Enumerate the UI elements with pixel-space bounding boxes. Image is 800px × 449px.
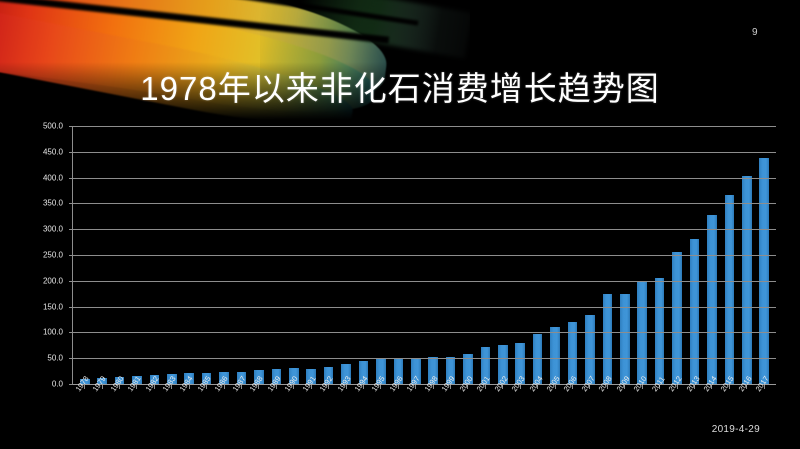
x-axis-label-cell: 2014 [703, 388, 720, 428]
slide-canvas: 9 1978年以来非化石消费增长趋势图 0.050.0100.0150.0200… [0, 0, 800, 449]
x-axis-label-cell: 2010 [634, 388, 651, 428]
y-axis-tick-label: 200.0 [43, 276, 63, 285]
bar[interactable] [742, 176, 752, 384]
bar[interactable] [690, 239, 700, 385]
x-axis-label-cell: 2013 [686, 388, 703, 428]
y-axis-tick-label: 300.0 [43, 225, 63, 234]
bar[interactable] [655, 278, 665, 384]
y-axis-tick-label: 0.0 [52, 380, 63, 389]
x-axis-label-cell: 1991 [302, 388, 319, 428]
x-axis-label-cell: 2015 [721, 388, 738, 428]
x-axis-label-cell: 1982 [145, 388, 162, 428]
gridline [73, 152, 776, 153]
gridline [73, 229, 776, 230]
bar[interactable] [672, 252, 682, 384]
x-axis-label-cell: 1980 [110, 388, 127, 428]
x-axis-label-cell: 2001 [476, 388, 493, 428]
y-axis-tick-mark [69, 126, 73, 127]
x-axis-label-cell: 1985 [197, 388, 214, 428]
x-axis-label-cell: 1998 [424, 388, 441, 428]
x-axis-label-cell: 2012 [668, 388, 685, 428]
y-axis-tick-mark [69, 332, 73, 333]
y-axis-tick-label: 500.0 [43, 122, 63, 131]
y-axis-tick-mark [69, 384, 73, 385]
x-axis-label-cell: 2006 [564, 388, 581, 428]
x-axis-label-cell: 2008 [599, 388, 616, 428]
gridline [73, 358, 776, 359]
x-axis-label-cell: 1997 [407, 388, 424, 428]
y-axis-tick-mark [69, 281, 73, 282]
y-axis-tick-label: 150.0 [43, 302, 63, 311]
x-axis-label-cell: 1990 [284, 388, 301, 428]
footer-date: 2019-4-29 [712, 424, 760, 435]
x-axis-label-cell: 1979 [92, 388, 109, 428]
y-axis-tick-label: 450.0 [43, 147, 63, 156]
x-axis-label-cell: 1984 [180, 388, 197, 428]
x-axis-label-cell: 2016 [738, 388, 755, 428]
bar[interactable] [725, 195, 735, 384]
gridline [73, 307, 776, 308]
x-axis-label-cell: 1996 [389, 388, 406, 428]
y-axis-tick-label: 400.0 [43, 173, 63, 182]
y-axis: 0.050.0100.0150.0200.0250.0300.0350.0400… [24, 126, 68, 384]
gridline [73, 203, 776, 204]
x-axis-label-cell: 2009 [616, 388, 633, 428]
x-axis-label-cell: 1981 [127, 388, 144, 428]
swoosh-green-streak [297, 0, 470, 58]
bar[interactable] [603, 294, 613, 384]
y-axis-tick-mark [69, 358, 73, 359]
y-axis-tick-label: 100.0 [43, 328, 63, 337]
x-axis-label-cell: 2017 [756, 388, 773, 428]
x-axis-label-cell: 2002 [494, 388, 511, 428]
plot-area [72, 126, 776, 384]
y-axis-tick-mark [69, 178, 73, 179]
y-axis-tick-mark [69, 152, 73, 153]
x-axis-label-cell: 2004 [529, 388, 546, 428]
x-axis-label-cell: 2000 [459, 388, 476, 428]
x-axis-label-cell: 1992 [319, 388, 336, 428]
x-axis-label-cell: 2005 [546, 388, 563, 428]
x-axis-label-cell: 1986 [215, 388, 232, 428]
x-axis-label-cell: 1989 [267, 388, 284, 428]
x-axis-label-cell: 1994 [354, 388, 371, 428]
bar-chart: 0.050.0100.0150.0200.0250.0300.0350.0400… [24, 126, 776, 384]
x-axis-label-cell: 1993 [337, 388, 354, 428]
page-title: 1978年以来非化石消费增长趋势图 [0, 62, 800, 110]
x-axis-label-cell: 1995 [372, 388, 389, 428]
swoosh-dark-slit-2 [91, 0, 418, 26]
x-axis-label-cell: 2011 [651, 388, 668, 428]
bar[interactable] [620, 294, 630, 384]
x-axis-label-cell: 1988 [250, 388, 267, 428]
y-axis-tick-label: 250.0 [43, 251, 63, 260]
x-axis-label-cell: 2007 [581, 388, 598, 428]
gridline [73, 126, 776, 127]
bar[interactable] [759, 158, 769, 384]
y-axis-tick-mark [69, 229, 73, 230]
gridline [73, 281, 776, 282]
y-axis-tick-mark [69, 203, 73, 204]
x-axis-labels: 1978197919801981198219831984198519861987… [72, 388, 776, 428]
gridline [73, 255, 776, 256]
bar[interactable] [585, 315, 595, 384]
x-axis-label-cell: 1999 [442, 388, 459, 428]
y-axis-tick-mark [69, 255, 73, 256]
y-axis-tick-label: 350.0 [43, 199, 63, 208]
x-axis-label-cell: 1983 [162, 388, 179, 428]
x-axis-label-cell: 2003 [511, 388, 528, 428]
y-axis-tick-mark [69, 307, 73, 308]
gridline [73, 332, 776, 333]
x-axis-label-cell: 1978 [75, 388, 92, 428]
gridline [73, 178, 776, 179]
x-axis-label-cell: 1987 [232, 388, 249, 428]
swoosh-dark-slit-1 [0, 0, 389, 44]
y-axis-tick-label: 50.0 [47, 354, 63, 363]
page-number: 9 [752, 27, 758, 38]
